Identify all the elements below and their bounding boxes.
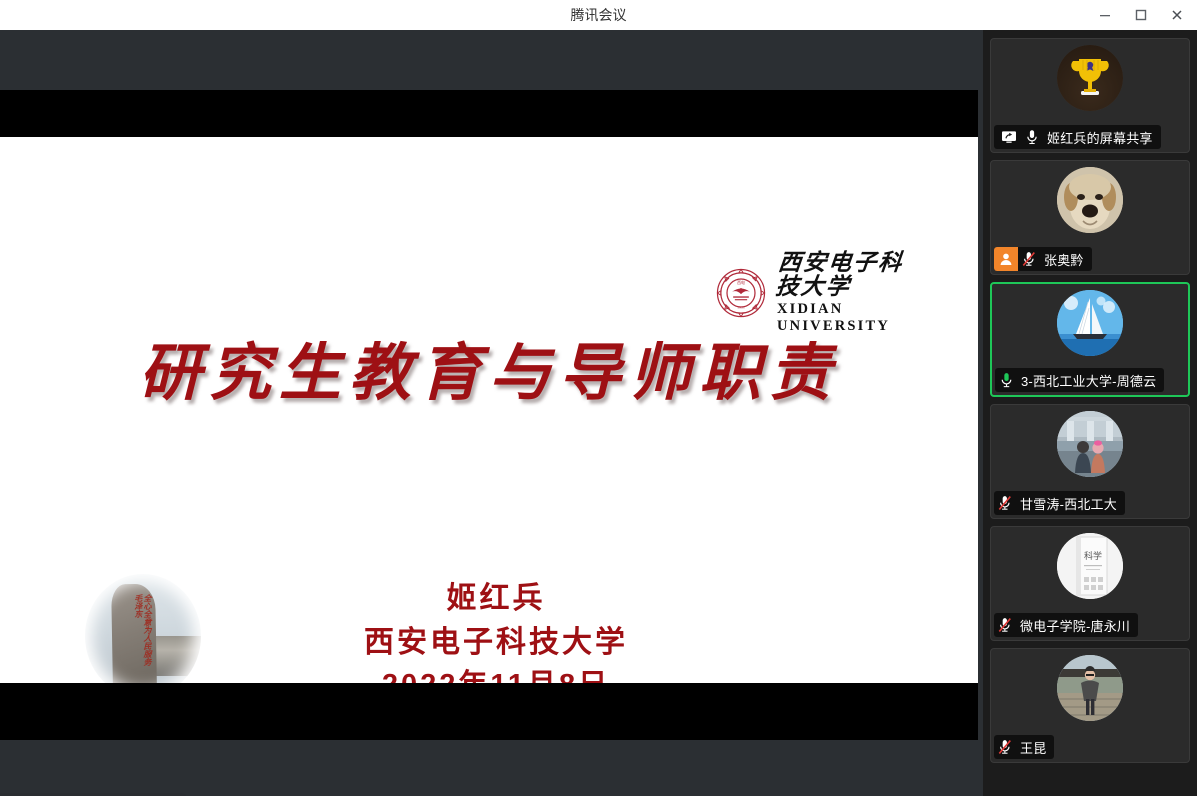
participant-label-bar: 王昆 [994, 735, 1054, 759]
person-avatar [1057, 655, 1123, 721]
svg-text:西电: 西电 [737, 280, 745, 285]
trophy-avatar [1057, 45, 1123, 111]
participant-label-bar: 张奥黔 [994, 247, 1092, 271]
mic-active-indicator [995, 368, 1017, 392]
participant-label-bar: 姬红兵的屏幕共享 [994, 125, 1161, 149]
couple-photo [1057, 411, 1123, 477]
svg-text:科学: 科学 [1084, 550, 1102, 562]
university-name-cn: 西安电子科技大学 [774, 251, 925, 299]
participant-tile[interactable]: 3-西北工业大学-周德云 [990, 282, 1190, 397]
participant-tile[interactable]: 科学 [990, 526, 1190, 641]
mic-muted-indicator [994, 735, 1016, 759]
screen-share-icon [1001, 130, 1017, 144]
mic-indicator [1021, 125, 1043, 149]
avatar [1057, 290, 1123, 356]
minimize-button[interactable] [1087, 0, 1123, 30]
participant-name: 张奥黔 [1040, 250, 1092, 269]
mic-muted-indicator [1018, 247, 1040, 271]
microphone-icon [1026, 129, 1038, 145]
book-photo: 科学 [1057, 533, 1123, 599]
participant-name: 甘雪涛-西北工大 [1016, 494, 1125, 513]
letterbox-top [0, 90, 978, 137]
maximize-icon [1134, 8, 1148, 22]
participant-tile[interactable]: 甘雪涛-西北工大 [990, 404, 1190, 519]
participant-rail[interactable]: 姬红兵的屏幕共享 [983, 30, 1197, 796]
shared-screen-stage[interactable]: 西电 1931 西安电子科技大学 XIDIAN UNIVERSITY 研究生教育… [0, 30, 983, 796]
participant-name: 姬红兵的屏幕共享 [1043, 128, 1161, 147]
participant-name: 王昆 [1016, 738, 1054, 757]
avatar [1057, 167, 1123, 233]
participant-tile[interactable]: 姬红兵的屏幕共享 [990, 38, 1190, 153]
host-badge [994, 247, 1018, 271]
screen-share-indicator [994, 125, 1021, 149]
close-icon [1170, 8, 1184, 22]
avatar [1057, 411, 1123, 477]
window-title: 腾讯会议 [0, 0, 1197, 30]
participant-label-bar: 甘雪涛-西北工大 [994, 491, 1125, 515]
avatar [1057, 655, 1123, 721]
close-button[interactable] [1159, 0, 1195, 30]
avatar [1057, 45, 1123, 111]
participant-tile[interactable]: 王昆 [990, 648, 1190, 763]
trophy-icon [1057, 45, 1123, 111]
participant-label-bar: 3-西北工业大学-周德云 [995, 368, 1164, 392]
presentation-date: 2022年11月8日 [300, 664, 692, 683]
svg-text:1931: 1931 [737, 306, 745, 310]
monument-photo: 全心全意为人民服务 毛泽东 [85, 574, 201, 683]
microphone-muted-icon [1022, 251, 1036, 267]
letterbox-bottom [0, 683, 978, 740]
university-logo: 西电 1931 西安电子科技大学 XIDIAN UNIVERSITY [713, 262, 923, 324]
sailboat-photo [1057, 290, 1123, 356]
microphone-muted-icon [998, 739, 1012, 755]
person-photo [1057, 655, 1123, 721]
presenter-block: 姬红兵 西安电子科技大学 2022年11月8日 [300, 577, 692, 683]
person-icon [999, 252, 1013, 266]
window-controls [1087, 0, 1195, 30]
sailboat-avatar [1057, 290, 1123, 356]
presenter-name: 姬红兵 [300, 577, 692, 621]
minimize-icon [1098, 8, 1112, 22]
mic-muted-indicator [994, 491, 1016, 515]
couple-avatar [1057, 411, 1123, 477]
microphone-active-icon [1000, 372, 1013, 388]
mic-muted-indicator [994, 613, 1016, 637]
dog-photo [1057, 167, 1123, 233]
presenter-organization: 西安电子科技大学 [300, 621, 692, 665]
slide-main-title: 研究生教育与导师职责 [0, 322, 978, 412]
microphone-muted-icon [998, 617, 1012, 633]
participant-name: 3-西北工业大学-周德云 [1017, 371, 1164, 390]
dog-avatar [1057, 167, 1123, 233]
participant-tile[interactable]: 张奥黔 [990, 160, 1190, 275]
university-seal-icon: 西电 1931 [713, 265, 769, 321]
title-bar: 腾讯会议 [0, 0, 1197, 31]
maximize-button[interactable] [1123, 0, 1159, 30]
participant-name: 微电子学院-唐永川 [1016, 616, 1138, 635]
microphone-muted-icon [998, 495, 1012, 511]
participant-label-bar: 微电子学院-唐永川 [994, 613, 1138, 637]
tencent-meeting-window: 腾讯会议 [0, 0, 1197, 796]
book-avatar: 科学 [1057, 533, 1123, 599]
avatar: 科学 [1057, 533, 1123, 599]
presentation-slide: 西电 1931 西安电子科技大学 XIDIAN UNIVERSITY 研究生教育… [0, 137, 978, 683]
